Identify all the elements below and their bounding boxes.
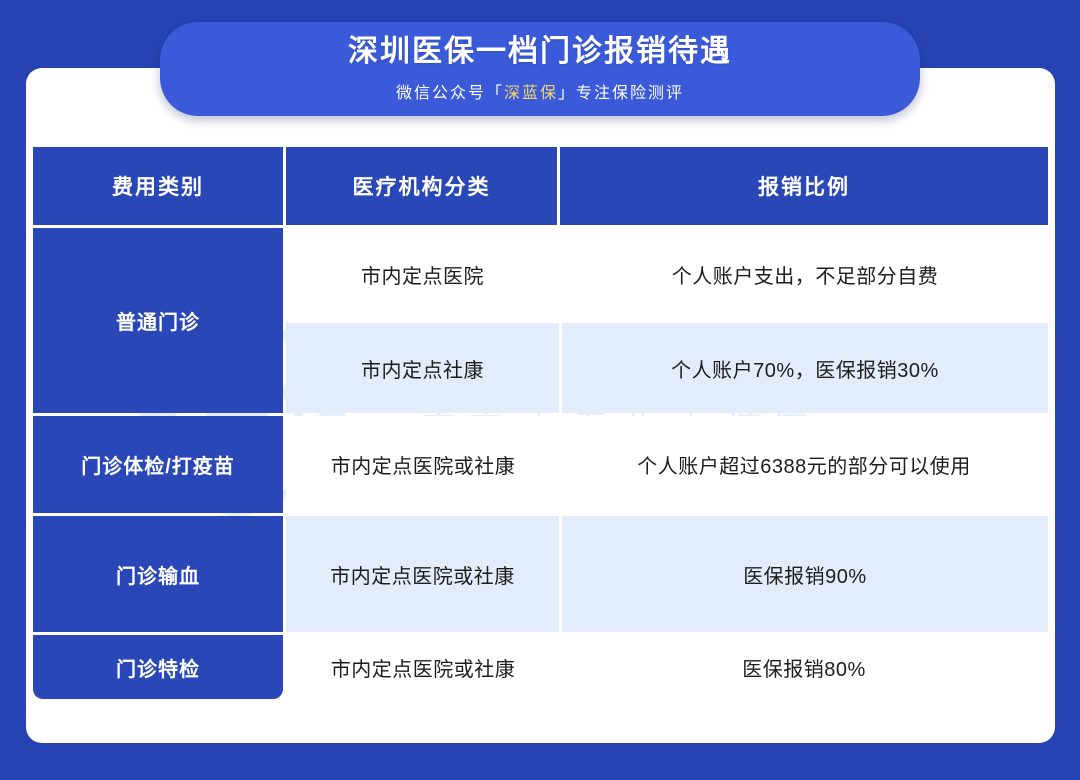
table-row: 门诊输血 市内定点医院或社康 医保报销90% [33, 516, 1048, 632]
cell-institution: 市内定点社康 [286, 323, 559, 413]
cell-ratio: 个人账户70%，医保报销30% [562, 323, 1048, 413]
table-row: 门诊体检/打疫苗 市内定点医院或社康 个人账户超过6388元的部分可以使用 [33, 416, 1048, 513]
row-category-cell: 普通门诊 [33, 228, 283, 413]
banner-subtitle: 微信公众号「深蓝保」专注保险测评 [396, 79, 684, 103]
row-category-cell: 门诊体检/打疫苗 [33, 416, 283, 513]
cell-ratio: 个人账户超过6388元的部分可以使用 [560, 416, 1048, 513]
page-title: 深圳医保一档门诊报销待遇 [348, 35, 732, 70]
row-category-cell: 门诊输血 [33, 516, 283, 632]
subtitle-prefix: 微信公众号「 [396, 85, 504, 102]
cell-ratio: 医保报销80% [560, 635, 1048, 699]
cell-institution: 市内定点医院或社康 [286, 635, 560, 699]
subtitle-brand: 深蓝保 [504, 85, 558, 102]
header-cell-ratio: 报销比例 [560, 147, 1048, 225]
cell-institution: 市内定点医院或社康 [286, 416, 560, 513]
header-cell-category: 费用类别 [33, 147, 283, 225]
row-category-cell: 门诊特检 [33, 635, 283, 699]
title-banner: 深圳医保一档门诊报销待遇 微信公众号「深蓝保」专注保险测评 [160, 22, 920, 116]
table-header-row: 费用类别 医疗机构分类 报销比例 [33, 147, 1048, 225]
subtitle-suffix: 」专注保险测评 [558, 85, 684, 102]
cell-ratio: 医保报销90% [562, 516, 1048, 632]
table-row: 普通门诊 市内定点医院 个人账户支出，不足部分自费 市内定点社康 个人账户70%… [33, 228, 1048, 413]
benefits-table: 费用类别 医疗机构分类 报销比例 普通门诊 市内定点医院 个人账户支出，不足部分… [33, 147, 1048, 699]
cell-institution: 市内定点医院 [286, 228, 559, 320]
cell-institution: 市内定点医院或社康 [286, 516, 559, 632]
table-row: 门诊特检 市内定点医院或社康 医保报销80% [33, 635, 1048, 699]
cell-ratio: 个人账户支出，不足部分自费 [562, 228, 1048, 320]
header-cell-institution: 医疗机构分类 [286, 147, 557, 225]
